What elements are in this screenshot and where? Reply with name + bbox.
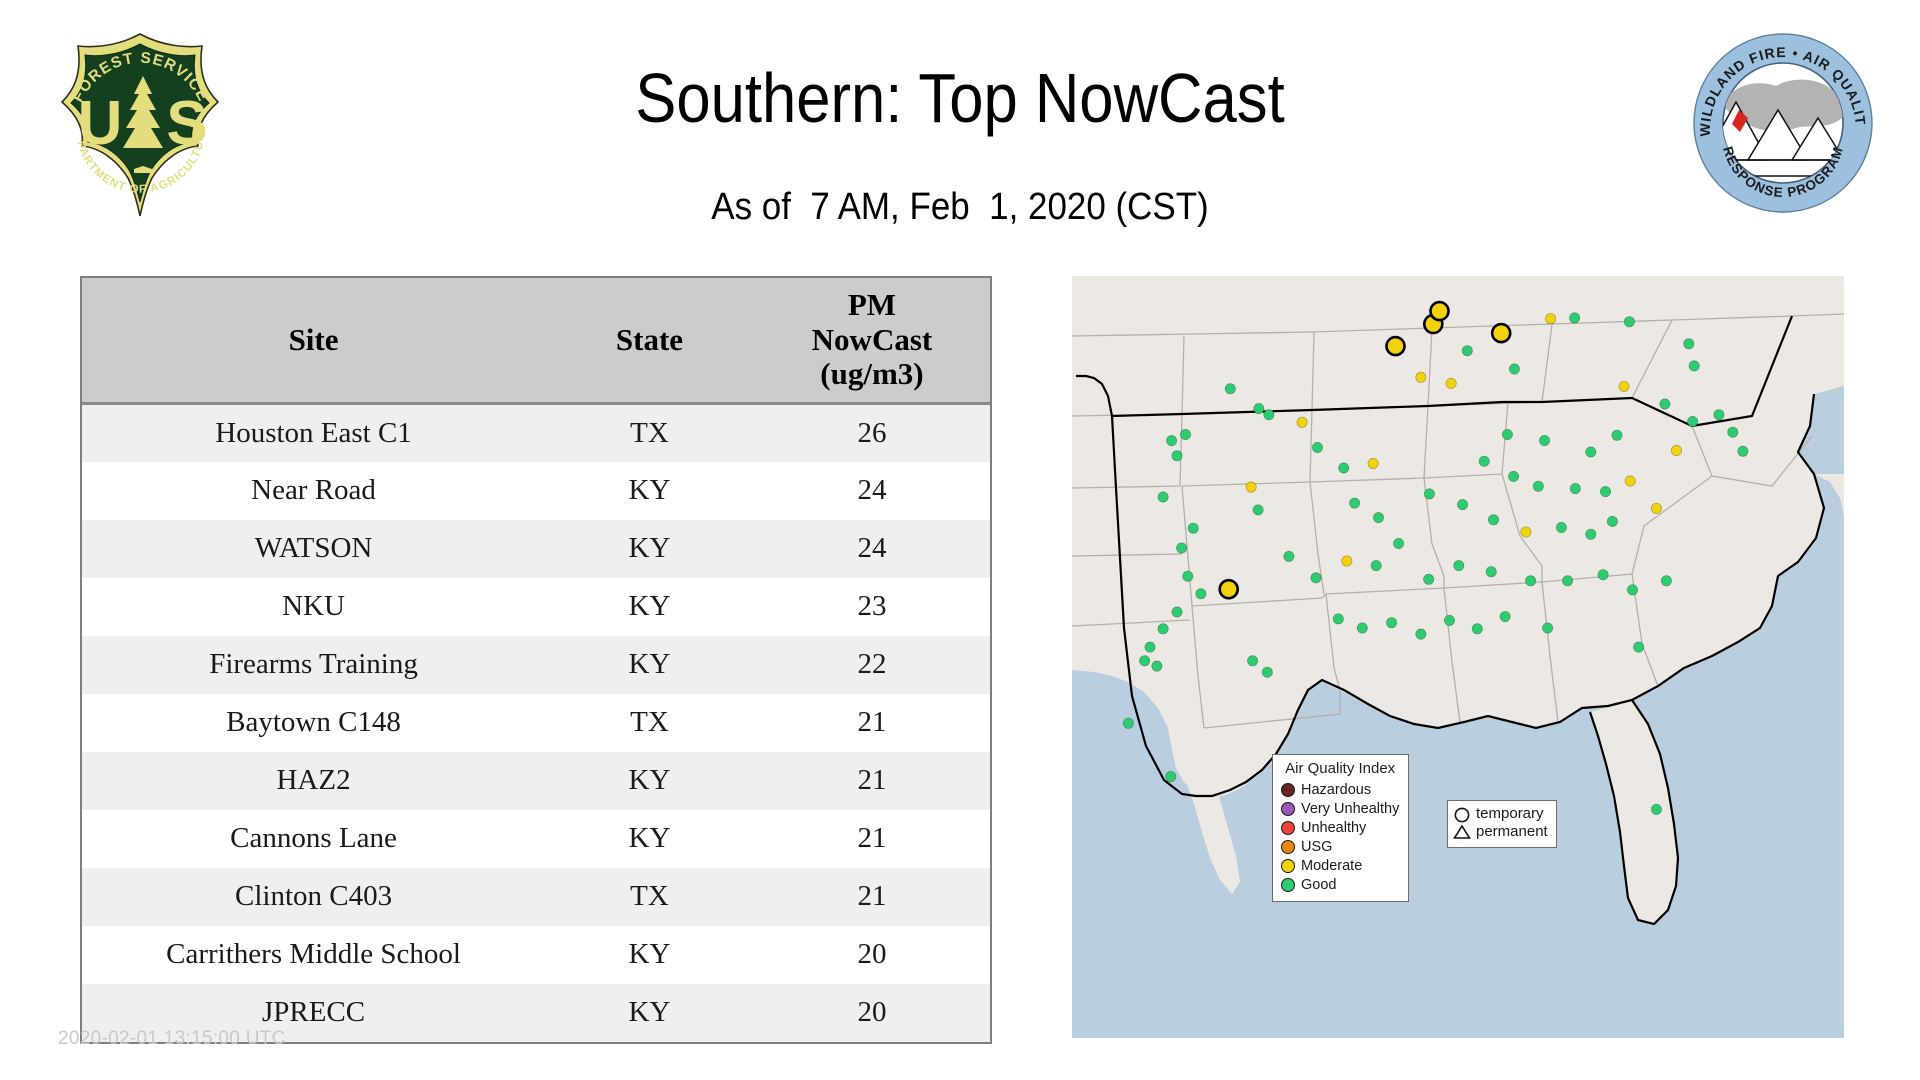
cell-state: TX — [545, 868, 754, 926]
aqi-label-very-unhealthy: Very Unhealthy — [1301, 801, 1399, 817]
cell-site: WATSON — [82, 520, 545, 578]
monitor-dot-good[interactable] — [1172, 607, 1182, 617]
aqi-label-moderate: Moderate — [1301, 858, 1362, 874]
table-row: Baytown C148 TX 21 — [82, 694, 990, 752]
aqi-legend-item: Moderate — [1281, 856, 1399, 875]
cell-pm-nowcast: 21 — [754, 752, 990, 810]
monitor-dot-good[interactable] — [1684, 339, 1694, 349]
cell-state: KY — [545, 636, 754, 694]
aqi-dot-good — [1281, 878, 1295, 892]
monitor-dot-good[interactable] — [1570, 483, 1580, 493]
usfs-shield-logo: FOREST SERVICE U S DEPARTMENT OF AGRICUL… — [48, 26, 233, 222]
aqi-label-unhealthy: Unhealthy — [1301, 820, 1366, 836]
monitor-dot-good[interactable] — [1586, 529, 1596, 539]
table-row: WATSON KY 24 — [82, 520, 990, 578]
monitor-dot-moderate[interactable] — [1619, 381, 1629, 391]
aqi-legend-item: Good — [1281, 875, 1399, 894]
monitor-dot-good[interactable] — [1462, 346, 1472, 356]
column-header-pm-nowcast: PM NowCast (ug/m3) — [754, 278, 990, 404]
aqi-dot-unhealthy — [1281, 821, 1295, 835]
monitor-dot-moderate[interactable] — [1671, 445, 1681, 455]
monitor-dot-good[interactable] — [1371, 560, 1381, 570]
monitor-dot-good[interactable] — [1339, 463, 1349, 473]
cell-site: Cannons Lane — [82, 810, 545, 868]
monitor-dot-good[interactable] — [1651, 804, 1661, 814]
monitor-dot-good[interactable] — [1424, 574, 1434, 584]
permanent-triangle-icon — [1453, 824, 1471, 840]
cell-state: KY — [545, 984, 754, 1042]
table-row: HAZ2 KY 21 — [82, 752, 990, 810]
monitor-dot-good[interactable] — [1262, 667, 1272, 677]
monitor-dot-good[interactable] — [1284, 551, 1294, 561]
aqi-dot-usg — [1281, 840, 1295, 854]
aqi-legend-item: Hazardous — [1281, 780, 1399, 799]
monitor-dot-good[interactable] — [1508, 471, 1518, 481]
monitor-dot-moderate[interactable] — [1521, 527, 1531, 537]
cell-state: KY — [545, 810, 754, 868]
monitor-dot-moderate[interactable] — [1342, 556, 1352, 566]
cell-pm-nowcast: 24 — [754, 520, 990, 578]
monitor-dot-good[interactable] — [1416, 629, 1426, 639]
monitor-dot-good[interactable] — [1556, 522, 1566, 532]
monitor-dot-good[interactable] — [1472, 624, 1482, 634]
presentation-slide: FOREST SERVICE U S DEPARTMENT OF AGRICUL… — [0, 0, 1920, 1080]
monitor-dot-good[interactable] — [1312, 442, 1322, 452]
monitor-dot-good[interactable] — [1569, 313, 1579, 323]
monitor-dot-good[interactable] — [1386, 618, 1396, 628]
monitor-dot-good[interactable] — [1152, 661, 1162, 671]
monitor-dot-good[interactable] — [1444, 615, 1454, 625]
table-row: NKU KY 23 — [82, 578, 990, 636]
monitor-dot-good[interactable] — [1689, 361, 1699, 371]
table-row: Carrithers Middle School KY 20 — [82, 926, 990, 984]
table-row: Houston East C1 TX 26 — [82, 404, 990, 462]
monitor-dot-moderate[interactable] — [1416, 372, 1426, 382]
monitor-dot-good[interactable] — [1183, 571, 1193, 581]
pm-header-line-3: (ug/m3) — [758, 357, 986, 392]
cell-site: HAZ2 — [82, 752, 545, 810]
monitor-dot-moderate[interactable] — [1446, 378, 1456, 388]
monitor-dot-good[interactable] — [1172, 451, 1182, 461]
monitor-dot-good[interactable] — [1166, 435, 1176, 445]
monitor-dot-good[interactable] — [1525, 576, 1535, 586]
monitor-dot-good[interactable] — [1196, 589, 1206, 599]
monitor-dot-good[interactable] — [1158, 624, 1168, 634]
wfaqrp-badge-logo: WILDLAND FIRE • AIR QUALITY RESPONSE PRO… — [1692, 32, 1874, 214]
monitor-dot-good[interactable] — [1176, 543, 1186, 553]
monitor-dot-good[interactable] — [1180, 429, 1190, 439]
cell-pm-nowcast: 22 — [754, 636, 990, 694]
aqi-legend-item: USG — [1281, 837, 1399, 856]
monitor-dot-good[interactable] — [1598, 570, 1608, 580]
monitor-dot-good[interactable] — [1123, 718, 1133, 728]
cell-pm-nowcast: 23 — [754, 578, 990, 636]
monitor-dot-good[interactable] — [1225, 384, 1235, 394]
monitor-dot-good[interactable] — [1349, 498, 1359, 508]
monitor-dot-good[interactable] — [1254, 403, 1264, 413]
cell-pm-nowcast: 20 — [754, 984, 990, 1042]
cell-pm-nowcast: 26 — [754, 404, 990, 462]
aqi-legend-item: Unhealthy — [1281, 818, 1399, 837]
monitor-dot-good[interactable] — [1479, 456, 1489, 466]
monitor-dot-good[interactable] — [1357, 623, 1367, 633]
monitor-dot-good[interactable] — [1488, 515, 1498, 525]
monitor-dot-moderate[interactable] — [1431, 302, 1449, 320]
monitor-dot-good[interactable] — [1457, 499, 1467, 509]
monitor-dot-good[interactable] — [1247, 656, 1257, 666]
aqi-label-hazardous: Hazardous — [1301, 782, 1371, 798]
cell-site: NKU — [82, 578, 545, 636]
footer-timestamp: 2020-02-01 13:15:00 UTC — [58, 1028, 286, 1050]
table-header-row: Site State PM NowCast (ug/m3) — [82, 278, 990, 404]
pm-header-line-1: PM — [758, 288, 986, 323]
monitor-dot-good[interactable] — [1612, 430, 1622, 440]
monitor-dot-good[interactable] — [1539, 435, 1549, 445]
monitor-dot-good[interactable] — [1333, 614, 1343, 624]
monitor-dot-good[interactable] — [1728, 427, 1738, 437]
monitor-dot-good[interactable] — [1373, 512, 1383, 522]
cell-state: KY — [545, 926, 754, 984]
monitor-dot-good[interactable] — [1533, 481, 1543, 491]
aqi-dot-moderate — [1281, 859, 1295, 873]
monitor-dot-good[interactable] — [1600, 486, 1610, 496]
monitor-dot-good[interactable] — [1586, 447, 1596, 457]
column-header-site: Site — [82, 278, 545, 404]
monitor-dot-moderate[interactable] — [1246, 482, 1256, 492]
monitor-dot-good[interactable] — [1542, 623, 1552, 633]
monitor-dot-good[interactable] — [1738, 446, 1748, 456]
column-header-state: State — [545, 278, 754, 404]
aqi-label-usg: USG — [1301, 839, 1332, 855]
site-type-label-temporary: temporary — [1476, 805, 1548, 823]
pm-header-line-2: NowCast — [758, 323, 986, 358]
cell-pm-nowcast: 24 — [754, 462, 990, 520]
monitor-dot-good[interactable] — [1139, 656, 1149, 666]
monitor-dot-good[interactable] — [1627, 585, 1637, 595]
monitor-dot-good[interactable] — [1424, 489, 1434, 499]
cell-site: Firearms Training — [82, 636, 545, 694]
cell-site: Baytown C148 — [82, 694, 545, 752]
cell-pm-nowcast: 21 — [754, 868, 990, 926]
monitor-dot-good[interactable] — [1607, 516, 1617, 526]
monitor-dot-moderate[interactable] — [1545, 314, 1555, 324]
monitor-dot-good[interactable] — [1454, 560, 1464, 570]
table-row: Cannons Lane KY 21 — [82, 810, 990, 868]
cell-site: Clinton C403 — [82, 868, 545, 926]
monitor-dot-good[interactable] — [1624, 317, 1634, 327]
aqi-legend-title: Air Quality Index — [1281, 760, 1399, 777]
cell-state: KY — [545, 520, 754, 578]
monitor-dot-good[interactable] — [1500, 611, 1510, 621]
monitor-dot-good[interactable] — [1486, 567, 1496, 577]
cell-state: KY — [545, 462, 754, 520]
temporary-circle-icon — [1453, 806, 1471, 824]
monitor-dot-good[interactable] — [1145, 642, 1155, 652]
monitor-dot-moderate[interactable] — [1297, 417, 1307, 427]
monitor-dot-good[interactable] — [1714, 410, 1724, 420]
table-row: Near Road KY 24 — [82, 462, 990, 520]
aqi-dot-hazardous — [1281, 783, 1295, 797]
table-row: Firearms Training KY 22 — [82, 636, 990, 694]
table-row: Clinton C403 TX 21 — [82, 868, 990, 926]
monitor-dot-good[interactable] — [1633, 642, 1643, 652]
monitor-dot-good[interactable] — [1166, 771, 1176, 781]
monitor-dot-good[interactable] — [1509, 364, 1519, 374]
monitor-dot-good[interactable] — [1158, 492, 1168, 502]
monitor-dot-moderate[interactable] — [1492, 324, 1510, 342]
monitor-dot-good[interactable] — [1661, 576, 1671, 586]
monitor-dot-moderate[interactable] — [1387, 337, 1405, 355]
site-type-labels: temporary permanent — [1476, 805, 1548, 842]
top-nowcast-table: Site State PM NowCast (ug/m3) Houston Ea… — [80, 276, 992, 1044]
cell-state: TX — [545, 694, 754, 752]
aqi-dot-very-unhealthy — [1281, 802, 1295, 816]
cell-state: KY — [545, 578, 754, 636]
site-type-glyphs — [1453, 806, 1471, 840]
monitor-dot-good[interactable] — [1502, 429, 1512, 439]
cell-pm-nowcast: 20 — [754, 926, 990, 984]
site-type-legend: temporary permanent — [1447, 800, 1557, 848]
cell-site: Carrithers Middle School — [82, 926, 545, 984]
aqi-monitor-map[interactable]: Air Quality Index Hazardous Very Unhealt… — [1072, 276, 1844, 1038]
cell-state: TX — [545, 404, 754, 462]
aqi-legend: Air Quality Index Hazardous Very Unhealt… — [1272, 754, 1409, 902]
monitor-dot-good[interactable] — [1264, 410, 1274, 420]
cell-pm-nowcast: 21 — [754, 694, 990, 752]
monitor-dot-good[interactable] — [1562, 576, 1572, 586]
monitor-dot-good[interactable] — [1393, 538, 1403, 548]
monitor-dot-moderate[interactable] — [1651, 503, 1661, 513]
cell-site: Near Road — [82, 462, 545, 520]
slide-subtitle: As of 7 AM, Feb 1, 2020 (CST) — [316, 186, 1604, 229]
monitor-dot-moderate[interactable] — [1368, 458, 1378, 468]
slide-title: Southern: Top NowCast — [344, 62, 1576, 136]
monitor-dot-good[interactable] — [1253, 505, 1263, 515]
monitor-dot-moderate[interactable] — [1625, 476, 1635, 486]
table-body: Houston East C1 TX 26 Near Road KY 24 WA… — [82, 404, 990, 1042]
monitor-dot-good[interactable] — [1188, 523, 1198, 533]
monitor-dot-good[interactable] — [1660, 399, 1670, 409]
site-type-label-permanent: permanent — [1476, 823, 1548, 841]
monitor-dot-good[interactable] — [1688, 416, 1698, 426]
cell-pm-nowcast: 21 — [754, 810, 990, 868]
monitor-dot-good[interactable] — [1311, 573, 1321, 583]
cell-state: KY — [545, 752, 754, 810]
aqi-label-good: Good — [1301, 877, 1336, 893]
aqi-legend-item: Very Unhealthy — [1281, 799, 1399, 818]
cell-site: Houston East C1 — [82, 404, 545, 462]
monitor-dot-moderate[interactable] — [1220, 580, 1238, 598]
